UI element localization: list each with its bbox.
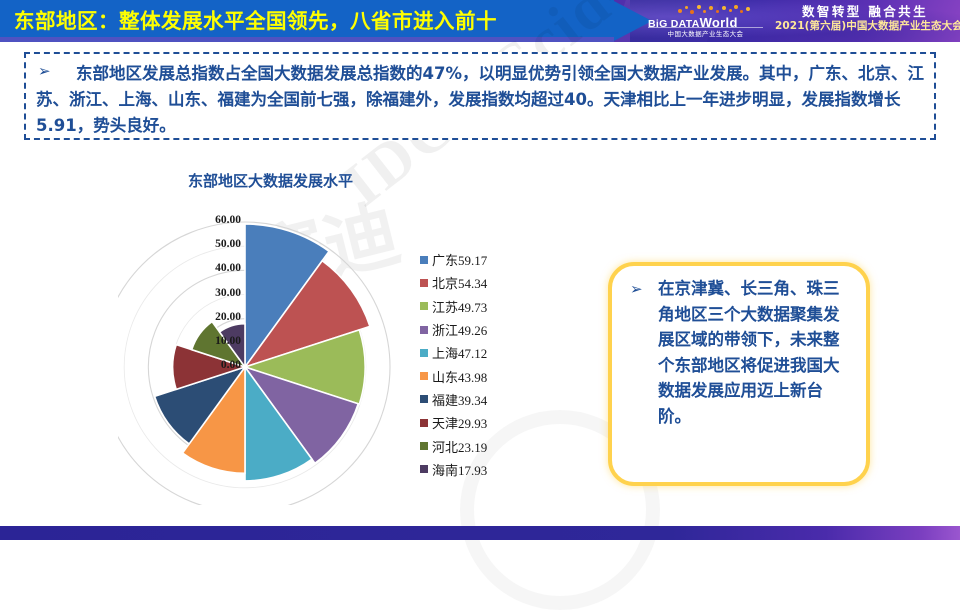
- legend-item-label: 广东59.17: [432, 250, 487, 269]
- legend-item-label: 江苏49.73: [432, 297, 487, 316]
- chart-axis-tick: 60.00: [215, 214, 241, 226]
- chart-legend: 广东59.17北京54.34江苏49.73浙江49.26上海47.12山东43.…: [420, 248, 540, 481]
- chart-axis-tick: 10.00: [215, 335, 241, 347]
- slogan-line-1: 数智转型 融合共生: [775, 4, 955, 19]
- legend-item: 江苏49.73: [420, 295, 540, 318]
- legend-swatch-icon: [420, 279, 428, 287]
- chart-axis-tick: 40.00: [215, 262, 241, 274]
- legend-item-label: 山东43.98: [432, 367, 487, 386]
- conclusion-callout-text: 在京津冀、长三角、珠三角地区三个大数据聚集发展区域的带领下，未来整个东部地区将促…: [658, 276, 854, 429]
- legend-swatch-icon: [420, 256, 428, 264]
- legend-swatch-icon: [420, 372, 428, 380]
- logo-subtitle: 中国大数据产业生态大会: [648, 28, 763, 38]
- summary-note-inner: 东部地区发展总指数占全国大数据发展总指数的47%，以明显优势引领全国大数据产业发…: [36, 61, 926, 139]
- legend-item: 山东43.98: [420, 364, 540, 387]
- polar-area-chart: 0.0010.0020.0030.0040.0050.0060.00: [118, 205, 418, 505]
- legend-item: 浙江49.26: [420, 318, 540, 341]
- page-title: 东部地区：整体发展水平全国领先，八省市进入前十: [14, 0, 497, 42]
- slogan-line-2: 2021(第六届)中国大数据产业生态大会: [775, 19, 955, 33]
- legend-item-label: 上海47.12: [432, 343, 487, 362]
- legend-item: 广东59.17: [420, 248, 540, 271]
- legend-item-label: 北京54.34: [432, 273, 487, 292]
- legend-swatch-icon: [420, 465, 428, 473]
- chart-axis-tick: 20.00: [215, 311, 241, 323]
- chart-axis-tick: 50.00: [215, 238, 241, 250]
- header-slogan: 数智转型 融合共生 2021(第六届)中国大数据产业生态大会: [775, 4, 955, 33]
- legend-swatch-icon: [420, 419, 428, 427]
- page-footer-bar: [0, 526, 960, 540]
- legend-swatch-icon: [420, 326, 428, 334]
- conclusion-callout-box: ➢ 在京津冀、长三角、珠三角地区三个大数据聚集发展区域的带领下，未来整个东部地区…: [608, 262, 870, 486]
- legend-swatch-icon: [420, 302, 428, 310]
- page-header: 东部地区：整体发展水平全国领先，八省市进入前十 BiG DATAWorld 中国…: [0, 0, 960, 42]
- chart-axis-tick: 0.00: [221, 359, 241, 371]
- legend-item: 河北23.19: [420, 434, 540, 457]
- chart-title: 东部地区大数据发展水平: [188, 170, 353, 191]
- legend-item-label: 天津29.93: [432, 413, 487, 432]
- legend-item-label: 海南17.93: [432, 460, 487, 479]
- chart-axis-tick: 30.00: [215, 287, 241, 299]
- legend-swatch-icon: [420, 442, 428, 450]
- legend-swatch-icon: [420, 349, 428, 357]
- legend-item-label: 福建39.34: [432, 390, 487, 409]
- legend-item: 天津29.93: [420, 411, 540, 434]
- legend-item: 北京54.34: [420, 271, 540, 294]
- summary-note-text: 东部地区发展总指数占全国大数据发展总指数的47%，以明显优势引领全国大数据产业发…: [36, 61, 926, 139]
- legend-item: 海南17.93: [420, 458, 540, 481]
- chart-radial-axis-labels: 0.0010.0020.0030.0040.0050.0060.00: [118, 205, 418, 505]
- bigdata-world-logo: BiG DATAWorld 中国大数据产业生态大会: [648, 4, 763, 38]
- legend-item-label: 浙江49.26: [432, 320, 487, 339]
- callout-bullet-arrow-icon: ➢: [630, 282, 643, 297]
- legend-item: 福建39.34: [420, 388, 540, 411]
- legend-swatch-icon: [420, 395, 428, 403]
- legend-item-label: 河北23.19: [432, 437, 487, 456]
- summary-note-box: ➢ 东部地区发展总指数占全国大数据发展总指数的47%，以明显优势引领全国大数据产…: [24, 52, 936, 140]
- legend-item: 上海47.12: [420, 341, 540, 364]
- title-band-arrow: [612, 0, 652, 42]
